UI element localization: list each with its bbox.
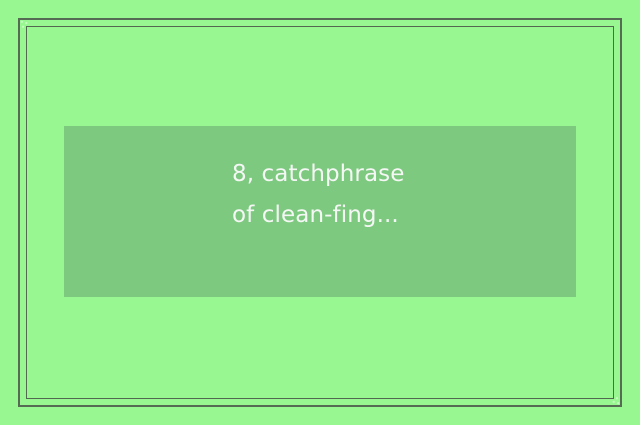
caption-line-2: of clean-fing... — [232, 195, 562, 236]
corner-speckle-icon — [611, 396, 620, 405]
caption-panel: 8, catchphrase of clean-fing... — [64, 126, 576, 297]
corner-speckle-icon — [20, 20, 29, 29]
quote-card-canvas: 8, catchphrase of clean-fing... — [0, 0, 640, 425]
caption-text-block: 8, catchphrase of clean-fing... — [232, 154, 562, 236]
caption-line-1: 8, catchphrase — [232, 154, 562, 195]
